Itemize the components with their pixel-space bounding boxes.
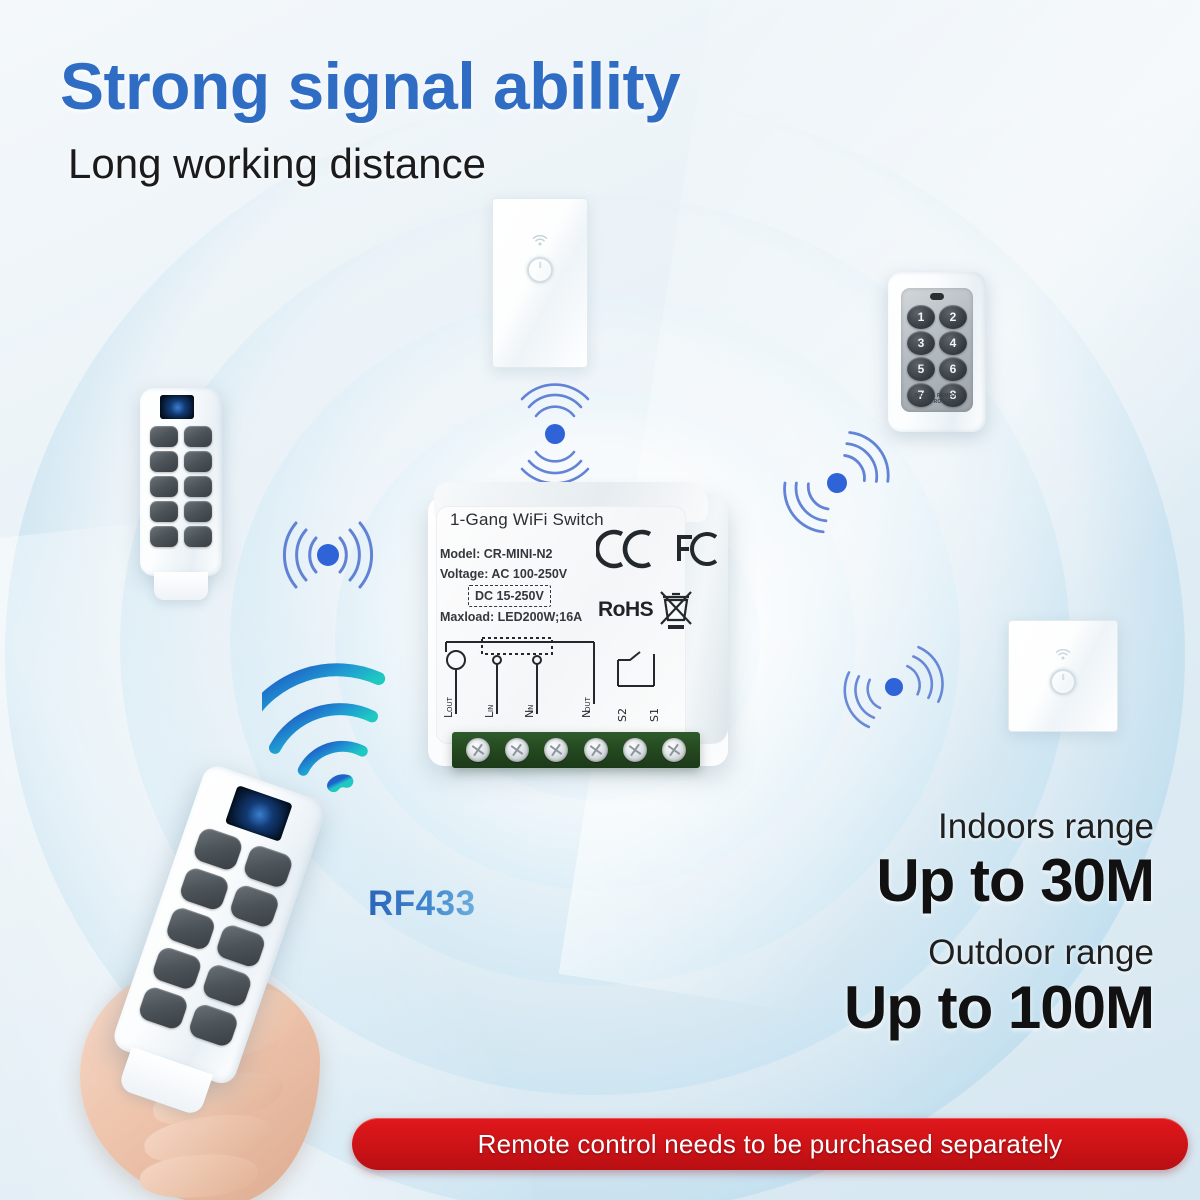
promo-image-stage: Strong signal ability Long working dista… bbox=[0, 0, 1200, 1200]
remote-key[interactable] bbox=[164, 905, 217, 951]
terminal-screw bbox=[466, 738, 490, 762]
remote-brand-text: DIGITAL REMOTE CONTROLLER bbox=[901, 393, 973, 407]
remote-key[interactable] bbox=[184, 426, 212, 447]
terminal-screw bbox=[662, 738, 686, 762]
remote-key-4[interactable]: 4 bbox=[939, 331, 967, 355]
svg-text:IN: IN bbox=[487, 705, 495, 712]
remote-key[interactable] bbox=[184, 451, 212, 472]
svg-text:S2: S2 bbox=[616, 708, 629, 722]
remote-key[interactable] bbox=[184, 476, 212, 497]
device-spec-block: Model: CR-MINI-N2 Voltage: AC 100-250V D… bbox=[440, 544, 582, 627]
remote-key[interactable] bbox=[178, 866, 231, 912]
device-dc-line: DC 15-250V bbox=[468, 585, 551, 607]
device-maxload-line: Maxload: LED200W;16A bbox=[440, 607, 582, 627]
page-title: Strong signal ability bbox=[60, 48, 680, 124]
terminal-screw bbox=[544, 738, 568, 762]
remote-key-6[interactable]: 6 bbox=[939, 357, 967, 381]
range-spec-block: Indoors range Up to 30M Outdoor range Up… bbox=[844, 806, 1154, 1041]
rohs-mark: RoHS bbox=[598, 598, 653, 622]
right-wall-switch[interactable] bbox=[1008, 620, 1118, 732]
remote-key[interactable] bbox=[184, 526, 212, 547]
signal-left bbox=[272, 516, 384, 594]
numbered-remote[interactable]: 1 2 3 4 5 6 7 8 DIGITAL REMOTE CONTROLLE… bbox=[888, 272, 986, 432]
remote-key[interactable] bbox=[151, 945, 204, 991]
device-voltage-line: Voltage: AC 100-250V bbox=[440, 564, 582, 584]
outdoor-range-value: Up to 100M bbox=[844, 974, 1154, 1041]
wiring-diagram: L OUT L IN N IN N OUT S2 S1 bbox=[440, 634, 690, 739]
outdoor-range-label: Outdoor range bbox=[844, 932, 1154, 973]
terminal-screw bbox=[584, 738, 608, 762]
remote-brand-line-2: CONTROLLER bbox=[901, 399, 973, 406]
remote-key-3[interactable]: 3 bbox=[907, 331, 935, 355]
touch-button[interactable] bbox=[527, 257, 553, 283]
remote-key[interactable] bbox=[150, 426, 178, 447]
weee-bin-icon bbox=[656, 588, 696, 637]
svg-text:OUT: OUT bbox=[446, 696, 454, 712]
ten-key-remote-left[interactable] bbox=[140, 388, 222, 576]
signal-top bbox=[516, 386, 594, 482]
device-title: 1-Gang WiFi Switch bbox=[450, 510, 604, 530]
rf433-label: RF433 bbox=[368, 884, 476, 924]
remote-keypad-panel: 1 2 3 4 5 6 7 8 DIGITAL REMOTE CONTROLLE… bbox=[901, 288, 973, 412]
remote-key[interactable] bbox=[184, 501, 212, 522]
svg-text:S1: S1 bbox=[648, 708, 661, 722]
terminal-screw bbox=[505, 738, 529, 762]
wifi-icon bbox=[533, 233, 548, 251]
page-subtitle: Long working distance bbox=[68, 140, 486, 188]
remote-keypad[interactable] bbox=[150, 426, 212, 547]
remote-base bbox=[154, 572, 208, 600]
remote-key-2[interactable]: 2 bbox=[939, 305, 967, 329]
indoor-range-label: Indoors range bbox=[844, 806, 1154, 847]
disclaimer-banner: Remote control needs to be purchased sep… bbox=[352, 1118, 1188, 1170]
rf-broadcast-wifi-icon bbox=[262, 660, 414, 799]
remote-led-window bbox=[160, 395, 194, 419]
terminal-block bbox=[452, 732, 700, 768]
touch-button[interactable] bbox=[1050, 669, 1076, 695]
terminal-screw bbox=[623, 738, 647, 762]
remote-brand-line-1: DIGITAL REMOTE bbox=[901, 393, 973, 400]
remote-key[interactable] bbox=[150, 451, 178, 472]
remote-key[interactable] bbox=[150, 476, 178, 497]
signal-right-upper bbox=[786, 440, 888, 526]
wifi-switch-module: 1-Gang WiFi Switch Model: CR-MINI-N2 Vol… bbox=[428, 482, 728, 782]
top-wall-switch[interactable] bbox=[492, 198, 588, 368]
device-model-line: Model: CR-MINI-N2 bbox=[440, 544, 582, 564]
remote-key[interactable] bbox=[150, 526, 178, 547]
svg-text:OUT: OUT bbox=[584, 696, 592, 712]
ir-emitter-icon bbox=[930, 293, 944, 300]
certification-marks bbox=[596, 528, 726, 575]
disclaimer-text: Remote control needs to be purchased sep… bbox=[478, 1129, 1063, 1160]
svg-text:IN: IN bbox=[527, 705, 535, 712]
remote-key-1[interactable]: 1 bbox=[907, 305, 935, 329]
remote-key[interactable] bbox=[150, 501, 178, 522]
indoor-range-value: Up to 30M bbox=[844, 847, 1154, 914]
signal-right-lower bbox=[848, 648, 940, 728]
remote-key-5[interactable]: 5 bbox=[907, 357, 935, 381]
wifi-icon bbox=[1056, 647, 1071, 665]
